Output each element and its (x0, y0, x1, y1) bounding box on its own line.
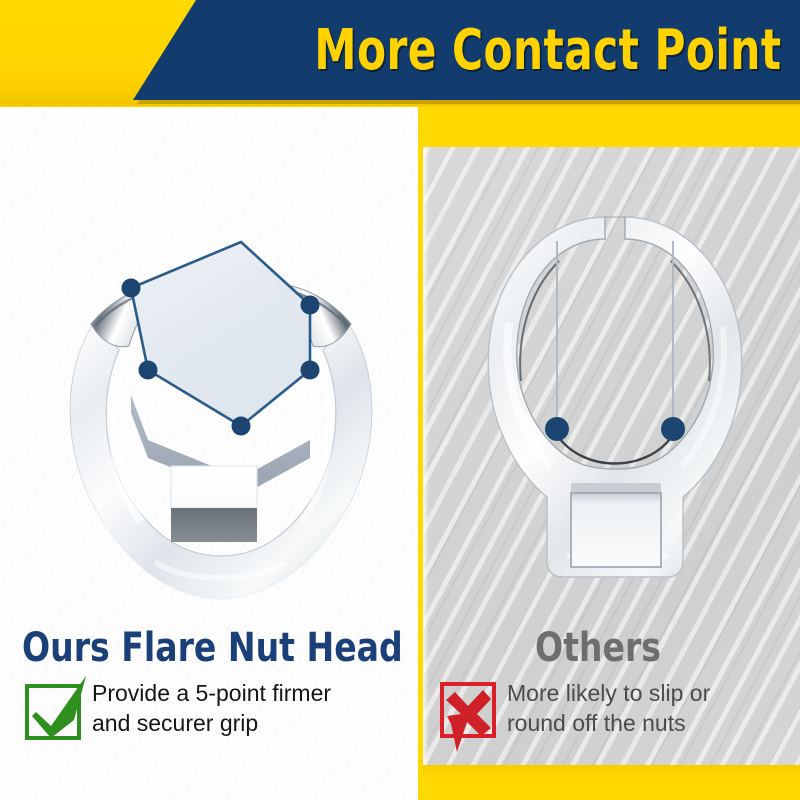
others-title: Others (437, 626, 759, 670)
contact-point-dot (232, 417, 251, 436)
nut-face (131, 242, 310, 426)
infographic-root: More Contact Point (0, 0, 800, 800)
open-end-crowfoot-wrench-image (455, 205, 775, 600)
ours-benefit-line-1: Provide a 5-point firmer (92, 678, 331, 708)
ours-benefit-line-2: and securer grip (92, 708, 331, 738)
contact-point-dot (122, 279, 141, 298)
jaw-contact-arc (557, 435, 673, 464)
ours-title: Ours Flare Nut Head (22, 626, 381, 670)
others-drawback-text: More likely to slip or round off the nut… (507, 678, 710, 738)
others-caption: Others More likely to slip or round off … (437, 626, 787, 738)
contact-point-dot (301, 361, 320, 380)
green-check-icon (22, 678, 80, 736)
ours-benefit-text: Provide a 5-point firmer and securer gri… (92, 678, 331, 738)
ours-caption: Ours Flare Nut Head Provide a 5-point fi… (22, 626, 412, 738)
red-cross-icon (437, 678, 495, 736)
contact-point-dot (139, 361, 158, 380)
contact-point-dot (301, 296, 320, 315)
square-drive-socket-bottom (171, 508, 257, 542)
square-drive-socket (571, 493, 661, 567)
contact-point-dot (661, 417, 685, 441)
contact-point-dot (545, 417, 569, 441)
others-drawback-line-2: round off the nuts (507, 708, 710, 738)
others-drawback-line-1: More likely to slip or (507, 678, 710, 708)
flare-nut-head-wrench-image (55, 200, 385, 600)
footer-yellow-band (423, 765, 800, 800)
page-title: More Contact Point (128, 0, 800, 100)
square-drive-socket-top (171, 466, 257, 508)
